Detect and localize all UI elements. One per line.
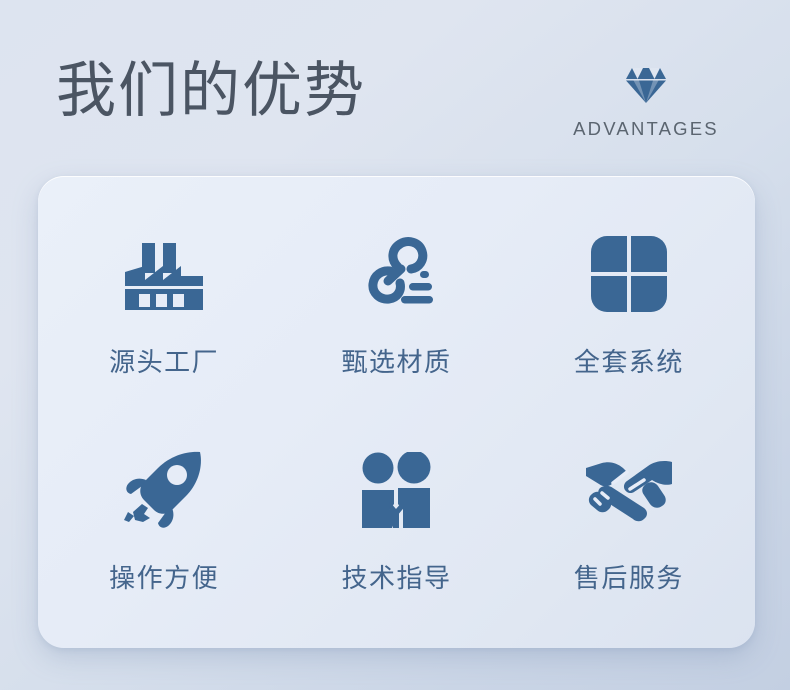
feature-label: 全套系统	[574, 342, 684, 379]
feature-item-materials[interactable]: 甄选材质	[280, 194, 512, 410]
feature-label: 售后服务	[574, 558, 684, 595]
feature-label: 甄选材质	[341, 342, 451, 379]
four-squares-icon	[579, 226, 679, 322]
handshake-icon	[579, 442, 679, 538]
feature-label: 源头工厂	[109, 342, 219, 379]
rocket-icon	[114, 442, 214, 538]
factory-icon	[114, 226, 214, 322]
advantages-card: 源头工厂	[38, 176, 755, 648]
feature-label: 技术指导	[341, 558, 451, 595]
feature-item-after-sales[interactable]: 售后服务	[513, 410, 745, 626]
header-subtitle-group: ADVANTAGES	[546, 66, 746, 140]
page-header: 我们的优势 ADVANTAGES	[0, 0, 790, 175]
feature-item-factory[interactable]: 源头工厂	[48, 194, 280, 410]
advantages-label: ADVANTAGES	[573, 118, 719, 140]
two-people-icon	[346, 442, 446, 538]
feature-item-easy-operation[interactable]: 操作方便	[48, 410, 280, 626]
feature-item-guidance[interactable]: 技术指导	[280, 410, 512, 626]
feature-grid: 源头工厂	[38, 176, 755, 648]
page-title: 我们的优势	[56, 56, 366, 125]
feature-item-system[interactable]: 全套系统	[513, 194, 745, 410]
feature-label: 操作方便	[109, 558, 219, 595]
link-chain-icon	[346, 226, 446, 322]
diamond-icon	[625, 66, 667, 118]
